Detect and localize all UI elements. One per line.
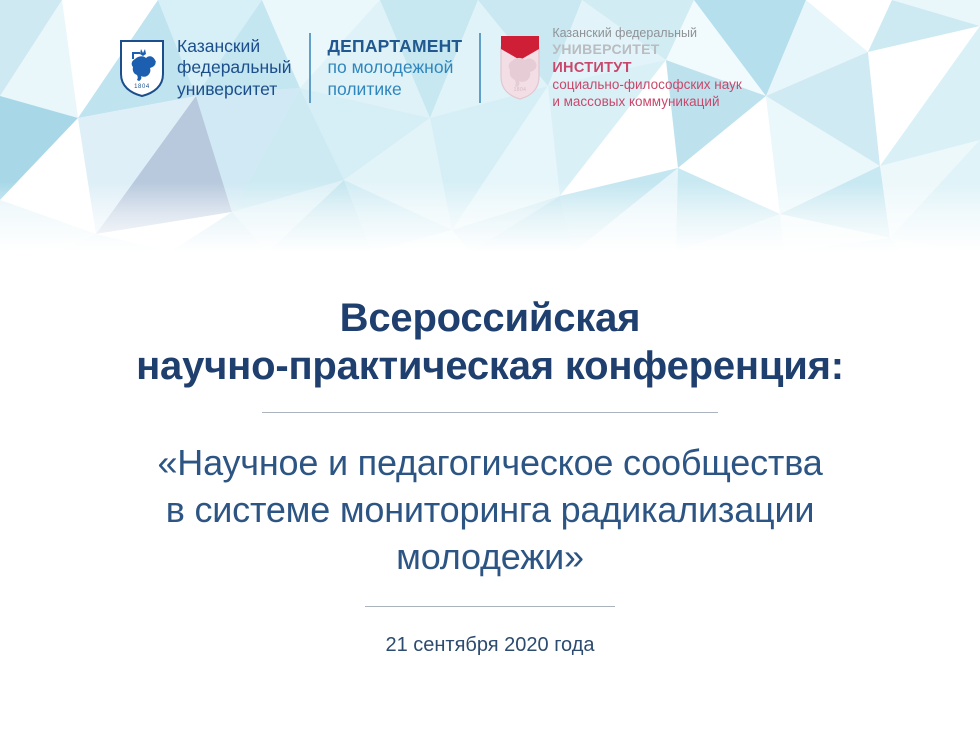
department-text-line1: ДЕПАРТАМЕНТ: [328, 36, 463, 58]
department-logo-text: ДЕПАРТАМЕНТ по молодежной политике: [328, 36, 463, 101]
svg-text:1804: 1804: [134, 84, 150, 90]
department-text-line2: по молодежной: [328, 57, 463, 79]
conference-subtitle-line3: молодежи»: [10, 533, 970, 580]
divider-top: [262, 412, 718, 413]
institute-kfu-line2: УНИВЕРСИТЕТ: [552, 41, 741, 58]
slide-content: Всероссийская научно-практическая конфер…: [0, 252, 980, 735]
logo-divider-2: [479, 33, 481, 103]
conference-title-line2: научно-практическая конференция:: [20, 342, 960, 390]
kfu-logo-text: Казанский федеральный университет: [177, 36, 292, 101]
conference-subtitle-line1: «Научное и педагогическое сообщества: [10, 439, 970, 486]
institute-name-line2: социально-философских наук: [552, 77, 741, 94]
kfu-text-line1: Казанский: [177, 36, 292, 58]
divider-bottom: [365, 606, 615, 607]
kfu-text-line2: федеральный: [177, 57, 292, 79]
ifsmc-shield-icon: 1804: [498, 35, 542, 101]
conference-date: 21 сентября 2020 года: [0, 634, 980, 657]
institute-name-line3: и массовых коммуникаций: [552, 94, 741, 111]
conference-title: Всероссийская научно-практическая конфер…: [20, 294, 960, 390]
kfu-shield-zilant-icon: 1804: [118, 38, 166, 98]
kfu-logo: 1804 Казанский федеральный университет: [118, 36, 292, 101]
svg-text:1804: 1804: [514, 87, 527, 93]
conference-subtitle-line2: в системе мониторинга радикализации: [10, 486, 970, 533]
kfu-text-line3: университет: [177, 79, 292, 101]
institute-kfu-line1: Казанский федеральный: [552, 26, 741, 41]
conference-subtitle: «Научное и педагогическое сообщества в с…: [10, 439, 970, 580]
department-text-line3: политике: [328, 79, 463, 101]
institute-logo: 1804 Казанский федеральный УНИВЕРСИТЕТ И…: [498, 26, 741, 111]
logo-divider-1: [309, 33, 311, 103]
conference-title-line1: Всероссийская: [20, 294, 960, 342]
institute-logo-text: Казанский федеральный УНИВЕРСИТЕТ ИНСТИТ…: [552, 26, 741, 111]
header-banner: 1804 Казанский федеральный университет Д…: [0, 0, 980, 252]
logo-row: 1804 Казанский федеральный университет Д…: [118, 28, 742, 108]
institute-name-line1: ИНСТИТУТ: [552, 59, 741, 77]
